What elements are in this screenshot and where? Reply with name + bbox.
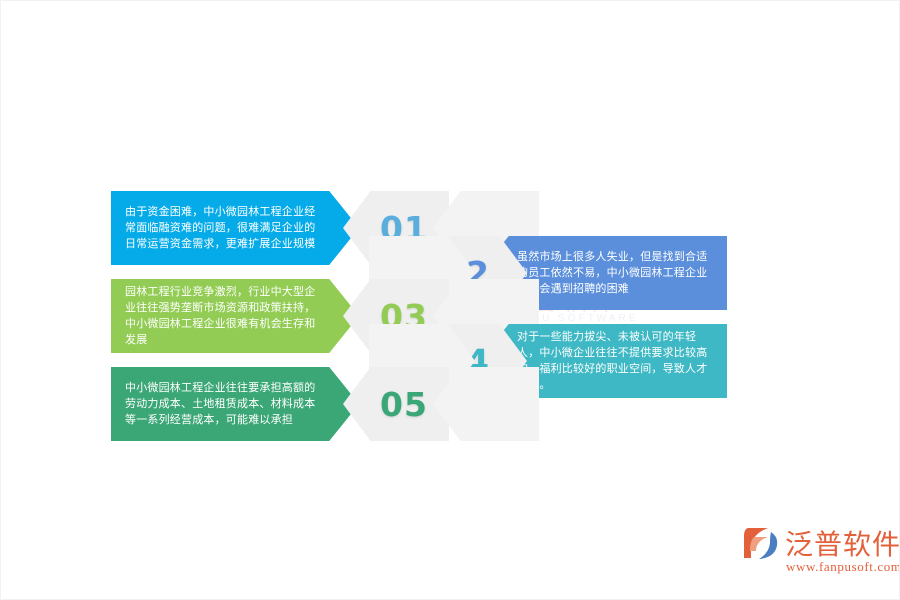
text-bar-03[interactable]: 园林工程行业竞争激烈，行业中大型企业往往强势垄断市场资源和政策扶持，中小微园林工…	[111, 279, 359, 353]
brand-url: www.fanpusoft.com	[786, 559, 900, 575]
text-bar-01[interactable]: 由于资金困难，中小微园林工程企业经常面临融资难的问题，很难满足企业的日常运营资金…	[111, 191, 359, 265]
text-bar-05[interactable]: 中小微园林工程企业往往要承担高额的劳动力成本、土地租赁成本、材料成本等一系列经营…	[111, 367, 359, 441]
brand-logo[interactable]: 泛普软件 www.fanpusoft.com	[741, 523, 881, 581]
item-number-05: 05	[380, 388, 428, 421]
brand-name: 泛普软件	[785, 523, 900, 563]
item-text-05: 中小微园林工程企业往往要承担高额的劳动力成本、土地租赁成本、材料成本等一系列经营…	[125, 380, 321, 428]
item-text-02: 虽然市场上很多人失业，但是找到合适的员工依然不易，中小微园林工程企业可能会遇到招…	[517, 249, 713, 297]
fanpu-logo-icon	[741, 525, 781, 561]
item-text-03: 园林工程行业竞争激烈，行业中大型企业往往强势垄断市场资源和政策扶持，中小微园林工…	[125, 284, 321, 348]
item-text-04: 对于一些能力拔尖、未被认可的年轻人，中小微企业往往不提供要求比较高的、福利比较好…	[517, 329, 713, 393]
item-text-01: 由于资金困难，中小微园林工程企业经常面临融资难的问题，很难满足企业的日常运营资金…	[125, 204, 321, 252]
diagram-canvas: 泛普软件 FANPU SOFTWARE 由于资金困难，中小微园林工程企业经常面临…	[0, 0, 900, 600]
